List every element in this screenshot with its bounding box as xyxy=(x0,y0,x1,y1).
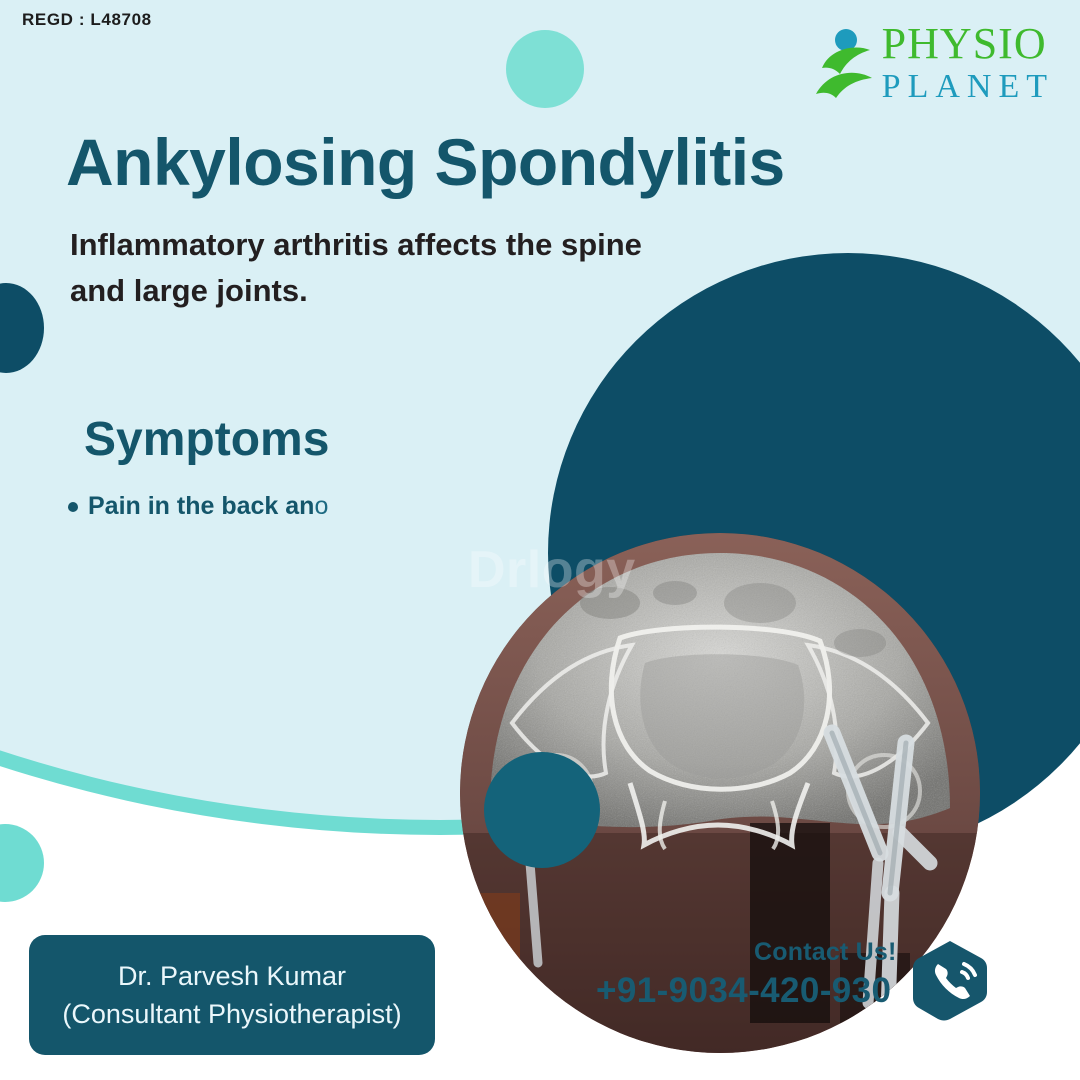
doctor-name: Dr. Parvesh Kumar xyxy=(118,957,346,995)
brand-name-top: PHYSIO xyxy=(882,22,1054,66)
page-title: Ankylosing Spondylitis xyxy=(66,124,785,200)
doctor-role: (Consultant Physiotherapist) xyxy=(62,995,401,1033)
poster-canvas: REGD : L48708 PHYSIO PLANET Ankylosing S… xyxy=(0,0,1080,1080)
brand-logo: PHYSIO PLANET xyxy=(812,22,1054,104)
ringing-phone-icon[interactable] xyxy=(908,938,992,1022)
doctor-card: Dr. Parvesh Kumar (Consultant Physiother… xyxy=(29,935,435,1055)
registration-number: REGD : L48708 xyxy=(22,10,152,30)
running-person-icon xyxy=(812,24,886,102)
brand-name-bottom: PLANET xyxy=(882,70,1054,104)
contact-phone-number[interactable]: +91-9034-420-930 xyxy=(596,971,896,1011)
page-subtitle: Inflammatory arthritis affects the spine… xyxy=(70,222,690,314)
decorative-circle-overlay xyxy=(484,752,600,868)
brand-wordmark: PHYSIO PLANET xyxy=(882,22,1054,104)
list-item: Pain in the back ano xyxy=(88,488,328,526)
contact-label: Contact Us! xyxy=(754,938,896,967)
symptom-text: Pain in the back an xyxy=(88,492,314,520)
symptoms-heading: Symptoms xyxy=(84,412,329,467)
contact-block: Contact Us! +91-9034-420-930 xyxy=(596,938,896,1011)
decorative-circle-mint-top xyxy=(506,30,584,108)
symptom-text-tail: o xyxy=(314,492,328,520)
symptoms-list: Pain in the back ano xyxy=(60,488,328,526)
